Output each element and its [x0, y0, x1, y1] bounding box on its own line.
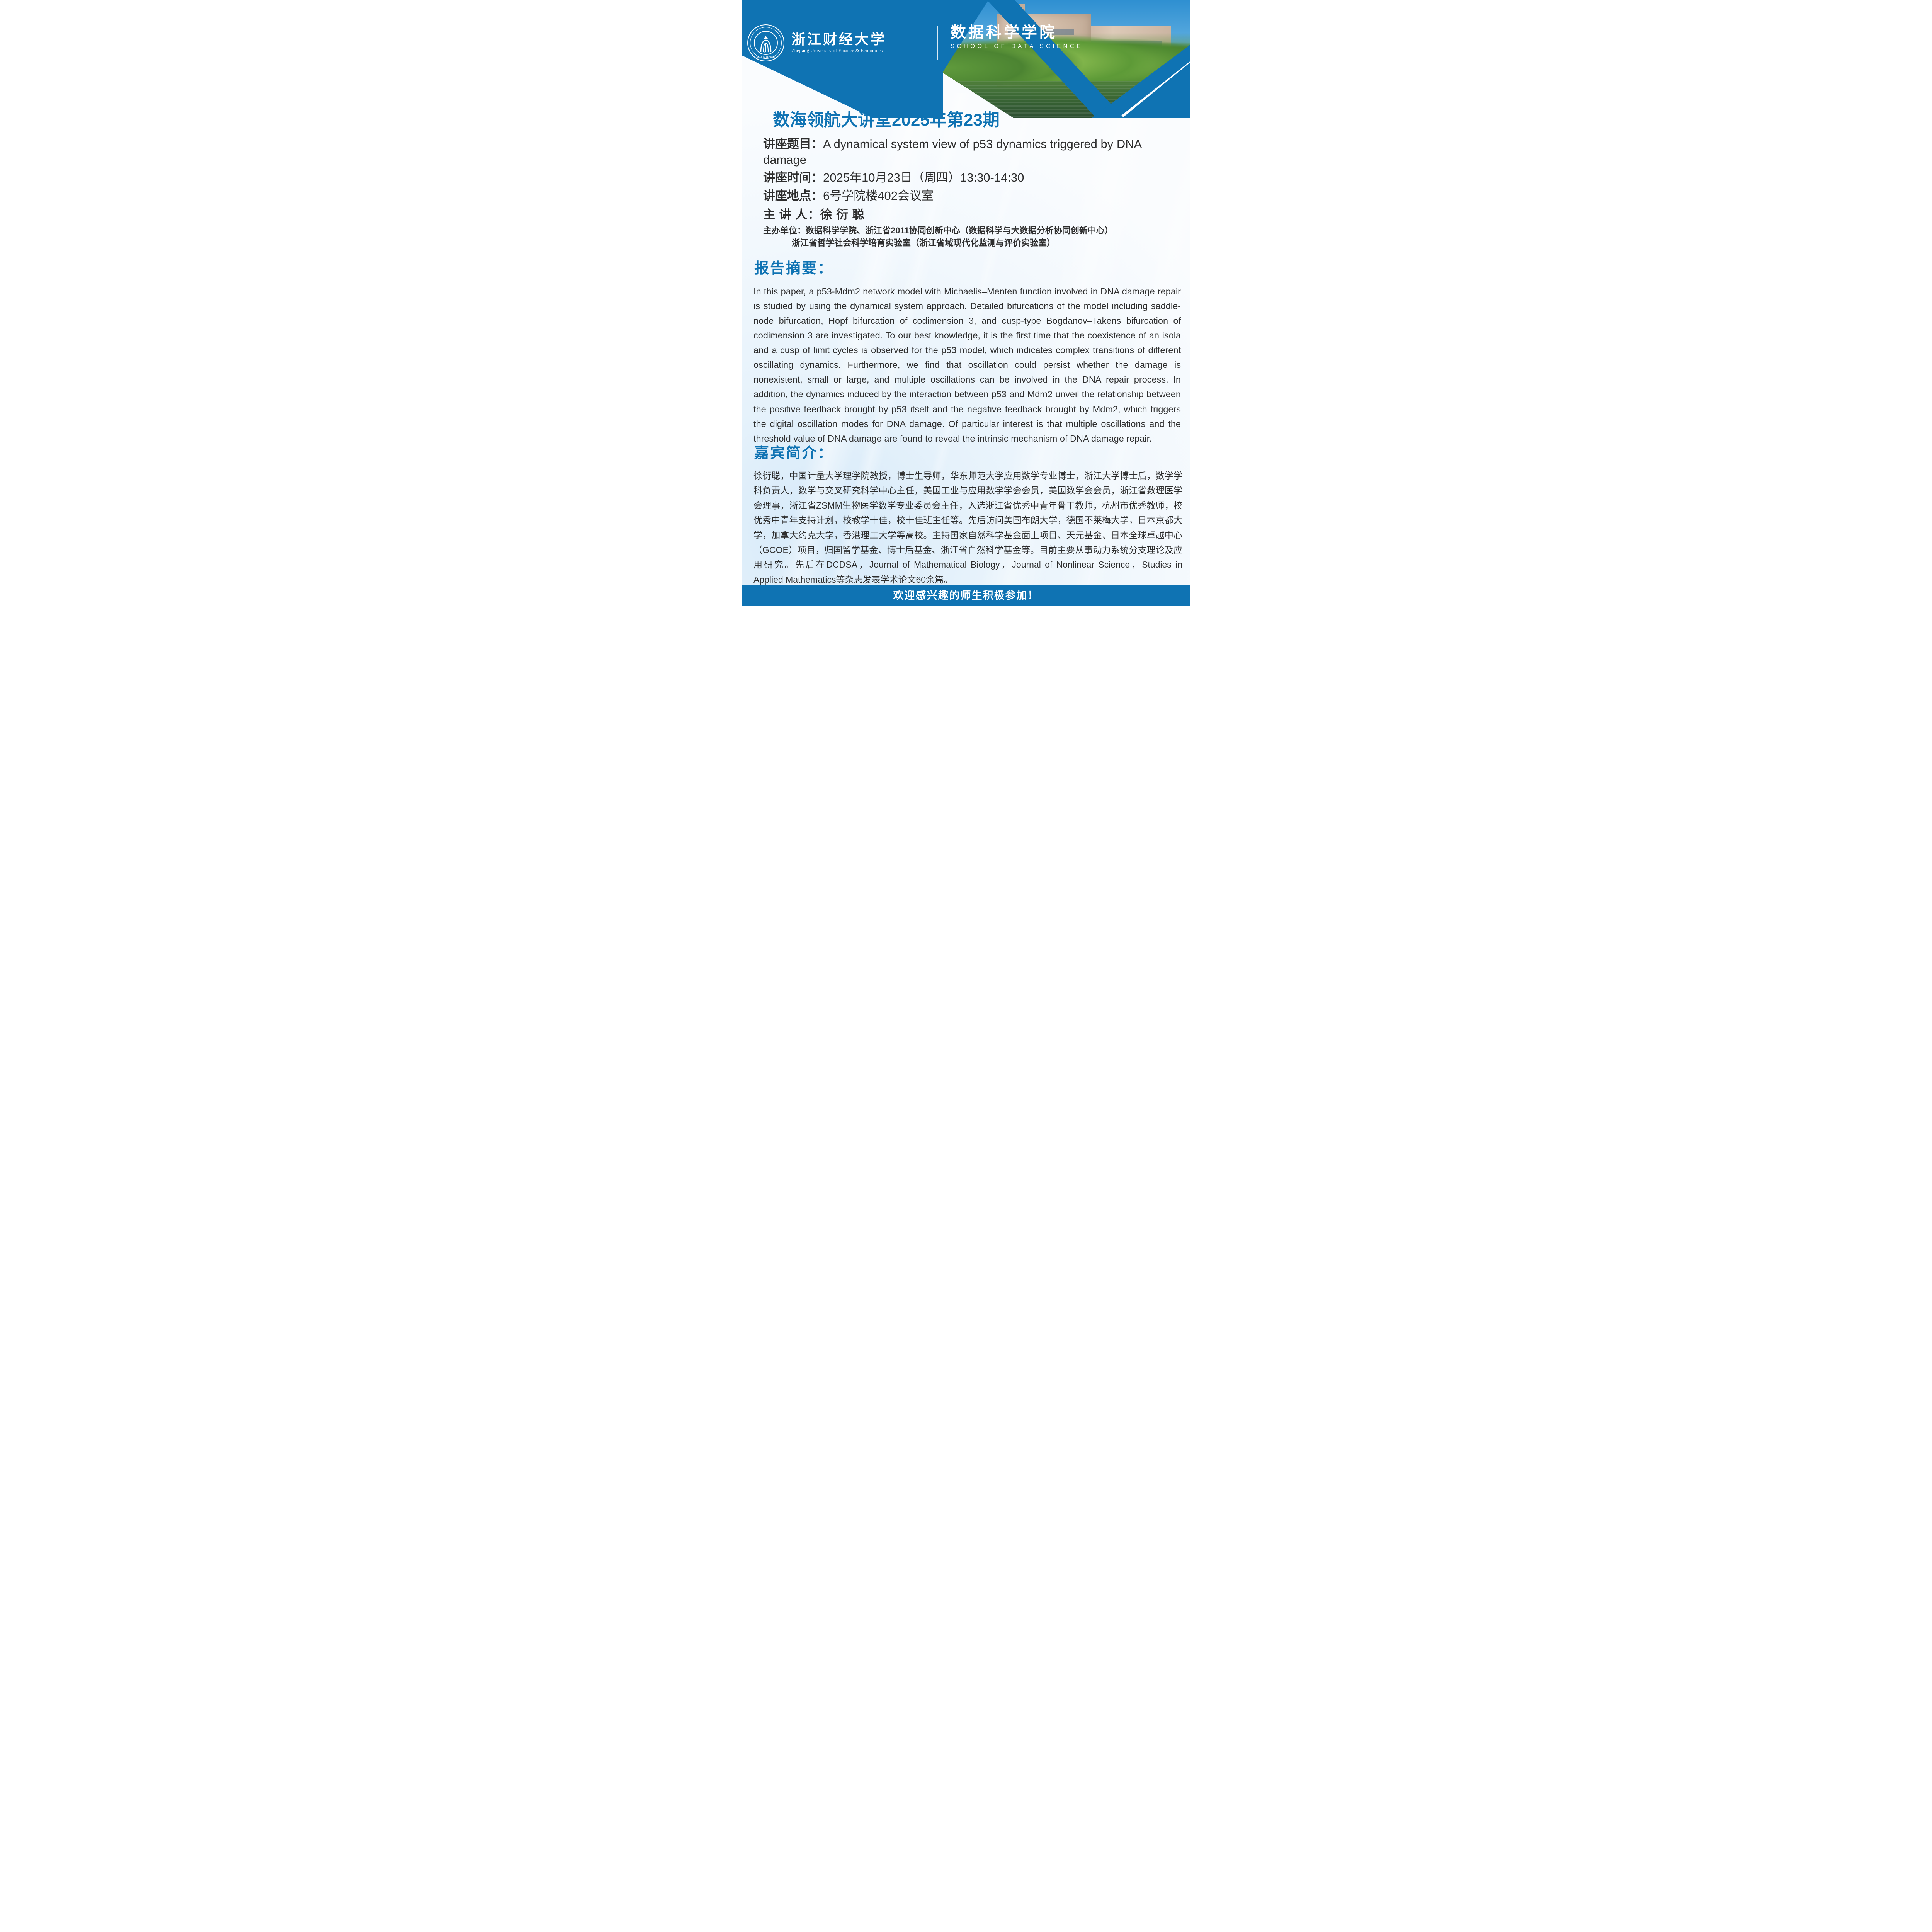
speaker-value: 徐 衍 聪 [820, 208, 864, 221]
logo-divider [937, 26, 938, 60]
bio-heading: 嘉宾简介： [754, 446, 833, 461]
seal-cn-text: 浙江财经大学 [747, 55, 784, 59]
university-seal-icon: 1974 浙江财经大学 [747, 24, 784, 61]
university-name-cn: 浙江财经大学 [791, 32, 886, 46]
page-title: 数海领航大讲堂2025年第23期 [773, 112, 1000, 129]
abstract-text: In this paper, a p53-Mdm2 network model … [753, 284, 1181, 446]
speaker-label: 主 讲 人： [763, 208, 820, 221]
time-label: 讲座时间： [763, 171, 823, 184]
place-label: 讲座地点： [763, 189, 823, 202]
info-row-speaker: 主 讲 人：徐 衍 聪 [763, 206, 1173, 223]
topic-label: 讲座题目： [763, 137, 823, 151]
university-name-en: Zhejiang University of Finance & Economi… [791, 48, 886, 53]
lecture-poster: 1974 浙江财经大学 浙江财经大学 Zhejiang University o… [742, 0, 1190, 606]
seal-year: 1974 [747, 50, 784, 54]
place-value: 6号学院楼402会议室 [823, 189, 934, 202]
footer-invitation-text: 欢迎感兴趣的师生积极参加！ [893, 590, 1039, 601]
lecture-info-block: 讲座题目：A dynamical system view of p53 dyna… [763, 136, 1173, 249]
poster-footer: 欢迎感兴趣的师生积极参加！ [742, 585, 1190, 606]
info-row-time: 讲座时间：2025年10月23日（周四）13:30-14:30 [763, 170, 1173, 185]
organizer-label: 主办单位： [763, 226, 806, 235]
school-lockup: 数据科学学院 SCHOOL OF DATA SCIENCE [951, 25, 1083, 49]
school-name-en: SCHOOL OF DATA SCIENCE [951, 43, 1083, 49]
info-row-place: 讲座地点：6号学院楼402会议室 [763, 188, 1173, 204]
organizer-line2: 浙江省哲学社会科学培育实验室（浙江省域现代化监测与评价实验室） [763, 237, 1173, 249]
time-value: 2025年10月23日（周四）13:30-14:30 [823, 171, 1024, 184]
school-name-cn: 数据科学学院 [951, 25, 1083, 40]
university-logo: 1974 浙江财经大学 浙江财经大学 Zhejiang University o… [747, 24, 933, 62]
abstract-heading: 报告摘要： [754, 261, 833, 276]
poster-header: 1974 浙江财经大学 浙江财经大学 Zhejiang University o… [742, 0, 1190, 118]
organizer-line1: 数据科学学院、浙江省2011协同创新中心（数据科学与大数据分析协同创新中心） [806, 226, 1113, 235]
bio-text: 徐衍聪，中国计量大学理学院教授，博士生导师，华东师范大学应用数学专业博士，浙江大… [753, 468, 1182, 587]
info-row-topic: 讲座题目：A dynamical system view of p53 dyna… [763, 136, 1173, 168]
info-row-organizer: 主办单位：数据科学学院、浙江省2011协同创新中心（数据科学与大数据分析协同创新… [763, 224, 1173, 248]
